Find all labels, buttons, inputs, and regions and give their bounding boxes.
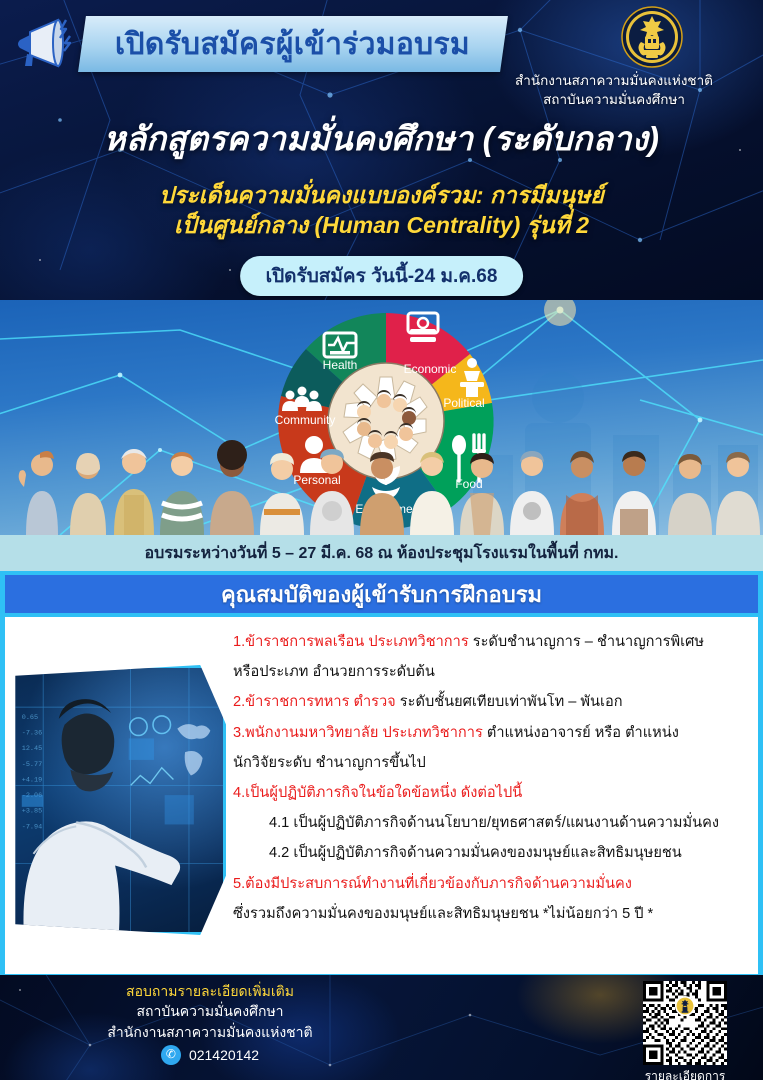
qualifications-list: 1.ข้าราชการพลเรือน ประเภทวิชาการ ระดับชำ… (233, 627, 758, 929)
svg-text:-7.94: -7.94 (22, 823, 42, 831)
man-viewing-data-dashboard-photo: 0.65-7.3612.45 -5.77+4.19-2.06 +3.85-7.9… (11, 665, 226, 935)
qualifications-header-label: คุณสมบัติของผู้เข้ารับการฝึกอบรม (221, 577, 542, 612)
svg-text:0.65: 0.65 (22, 714, 38, 722)
phone-icon: ✆ (161, 1045, 181, 1065)
diverse-crowd-illustration (0, 435, 763, 535)
crowd-person (668, 454, 712, 535)
list-item: 4.2 เป็นผู้ปฏิบัติภารกิจด้านความมั่นคงขอ… (233, 838, 758, 868)
item-5b-black: ซึ่งรวมถึงความมั่นคงของมนุษย์และสิทธิมนุ… (233, 906, 653, 922)
item-1-red: ข้าราชการพลเรือน ประเภทวิชาการ (245, 634, 469, 650)
item-4-2: 4.2 เป็นผู้ปฏิบัติภารกิจด้านความมั่นคงขอ… (269, 845, 682, 861)
qualifications-section: คุณสมบัติของผู้เข้ารับการฝึกอบรม 0.65-7.… (0, 571, 763, 975)
svg-text:12.45: 12.45 (22, 745, 42, 753)
qr-block[interactable]: รายละเอียดการสมัคร (633, 981, 737, 1080)
crowd-person (260, 453, 304, 535)
item-4-1: 4.1 เป็นผู้ปฏิบัติภารกิจด้านนโยบาย/ยุทธศ… (269, 815, 719, 831)
list-item: 1.ข้าราชการพลเรือน ประเภทวิชาการ ระดับชำ… (233, 627, 758, 657)
list-item: ซึ่งรวมถึงความมั่นคงของมนุษย์และสิทธิมนุ… (233, 899, 758, 929)
wheel-label-community: Community (275, 413, 336, 427)
item-2-black: ระดับชั้นยศเทียบเท่าพันโท – พันเอก (396, 694, 623, 710)
list-item: 5.ต้องมีประสบการณ์ทำงานที่เกี่ยวข้องกับภ… (233, 869, 758, 899)
svg-text:+4.19: +4.19 (22, 776, 42, 784)
crowd-person (310, 449, 354, 535)
dashboard-photo-graphic: 0.65-7.3612.45 -5.77+4.19-2.06 +3.85-7.9… (14, 668, 223, 932)
crowd-person (360, 452, 404, 535)
crowd-person (460, 453, 504, 535)
qr-code-graphic (643, 981, 727, 1065)
list-item: 4.1 เป็นผู้ปฏิบัติภารกิจด้านนโยบาย/ยุทธศ… (233, 808, 758, 838)
footer-line-3: สำนักงานสภาความมั่นคงแห่งชาติ (0, 1022, 420, 1042)
item-2-num: 2. (233, 694, 245, 710)
crowd-person (560, 451, 604, 535)
qr-label: รายละเอียดการสมัคร (633, 1067, 737, 1080)
crowd-person (612, 451, 656, 535)
announcement-ribbon: เปิดรับสมัครผู้เข้าร่วมอบรม (78, 16, 508, 72)
qr-center-emblem-icon (675, 996, 695, 1016)
phone-number[interactable]: 021420142 (189, 1045, 259, 1065)
footer-section: สอบถามรายละเอียดเพิ่มเติม สถาบันความมั่น… (0, 975, 763, 1080)
item-3-num: 3. (233, 725, 245, 741)
crowd-person (210, 440, 254, 535)
wheel-label-health: Health (323, 358, 358, 372)
item-4-num: 4. (233, 785, 245, 801)
footer-line-1: สอบถามรายละเอียดเพิ่มเติม (0, 981, 420, 1001)
list-item: 4.เป็นผู้ปฏิบัติภารกิจในข้อใดข้อหนึ่ง ดั… (233, 778, 758, 808)
hero-section: เปิดรับสมัครผู้เข้าร่วมอบรม สำนักงานสภาค… (0, 0, 763, 300)
ribbon-label: เปิดรับสมัครผู้เข้าร่วมอบรม (115, 21, 470, 68)
item-1b-black: หรือประเภท อำนวยการระดับต้น (233, 664, 435, 680)
list-item: 3.พนักงานมหาวิทยาลัย ประเภทวิชาการ ตำแหน… (233, 718, 758, 748)
footer-contact-block: สอบถามรายละเอียดเพิ่มเติม สถาบันความมั่น… (0, 981, 420, 1065)
qr-code[interactable] (643, 981, 727, 1065)
svg-text:-7.36: -7.36 (22, 729, 42, 737)
crowd-person (160, 452, 204, 535)
qualifications-header: คุณสมบัติของผู้เข้ารับการฝึกอบรม (5, 575, 758, 613)
subtitle-line-2: เป็นศูนย์กลาง (Human Centrality) รุ่นที่… (0, 210, 763, 240)
organization-names: สำนักงานสภาความมั่นคงแห่งชาติ สถาบันความ… (470, 72, 758, 109)
item-2-red: ข้าราชการทหาร ตำรวจ (245, 694, 396, 710)
item-5-red: ต้องมีประสบการณ์ทำงานที่เกี่ยวข้องกับภาร… (245, 876, 632, 892)
application-period-badge: เปิดรับสมัคร วันนี้-24 ม.ค.68 (240, 256, 524, 296)
megaphone-icon (14, 14, 76, 72)
item-4-red: เป็นผู้ปฏิบัติภารกิจในข้อใดข้อหนึ่ง ดังต… (245, 785, 522, 801)
list-item: หรือประเภท อำนวยการระดับต้น (233, 657, 758, 687)
item-5-num: 5. (233, 876, 245, 892)
crowd-person (716, 452, 760, 535)
wheel-label-political: Political (443, 396, 484, 410)
item-3b-black: นักวิจัยระดับ ชำนาญการขึ้นไป (233, 755, 426, 771)
illustration-band: Economic Political Food Environment Pers… (0, 300, 763, 535)
thai-royal-garuda-emblem-icon (621, 6, 683, 68)
crowd-person (114, 449, 154, 535)
crowd-person (70, 453, 106, 535)
page-subtitle: ประเด็นความมั่นคงแบบองค์รวม: การมีมนุษย์… (0, 180, 763, 241)
poster-root: เปิดรับสมัครผู้เข้าร่วมอบรม สำนักงานสภาค… (0, 0, 763, 1080)
item-1-black: ระดับชำนาญการ – ชำนาญการพิเศษ (469, 634, 704, 650)
footer-line-2: สถาบันความมั่นคงศึกษา (0, 1001, 420, 1021)
list-item: นักวิจัยระดับ ชำนาญการขึ้นไป (233, 748, 758, 778)
item-3-black: ตำแหน่งอาจารย์ หรือ ตำแหน่ง (483, 725, 679, 741)
list-item: 2.ข้าราชการทหาร ตำรวจ ระดับชั้นยศเทียบเท… (233, 687, 758, 717)
item-3-red: พนักงานมหาวิทยาลัย ประเภทวิชาการ (245, 725, 483, 741)
svg-text:-5.77: -5.77 (22, 761, 42, 769)
crowd-person (19, 451, 58, 535)
qualifications-body: 0.65-7.3612.45 -5.77+4.19-2.06 +3.85-7.9… (5, 617, 758, 974)
wheel-label-economic: Economic (404, 362, 457, 376)
org-line-1: สำนักงานสภาความมั่นคงแห่งชาติ (470, 72, 758, 91)
item-1-num: 1. (233, 634, 245, 650)
training-dates-strip: อบรมระหว่างวันที่ 5 – 27 มี.ค. 68 ณ ห้อง… (0, 535, 763, 571)
crowd-person (510, 451, 554, 535)
training-dates-text: อบรมระหว่างวันที่ 5 – 27 มี.ค. 68 ณ ห้อง… (144, 541, 618, 566)
subtitle-line-1: ประเด็นความมั่นคงแบบองค์รวม: การมีมนุษย์ (0, 180, 763, 210)
page-title: หลักสูตรความมั่นคงศึกษา (ระดับกลาง) (0, 112, 763, 165)
phone-row[interactable]: ✆ 021420142 (0, 1045, 420, 1065)
crowd-person (410, 452, 454, 535)
org-line-2: สถาบันความมั่นคงศึกษา (470, 91, 758, 110)
svg-text:+3.85: +3.85 (22, 808, 42, 816)
